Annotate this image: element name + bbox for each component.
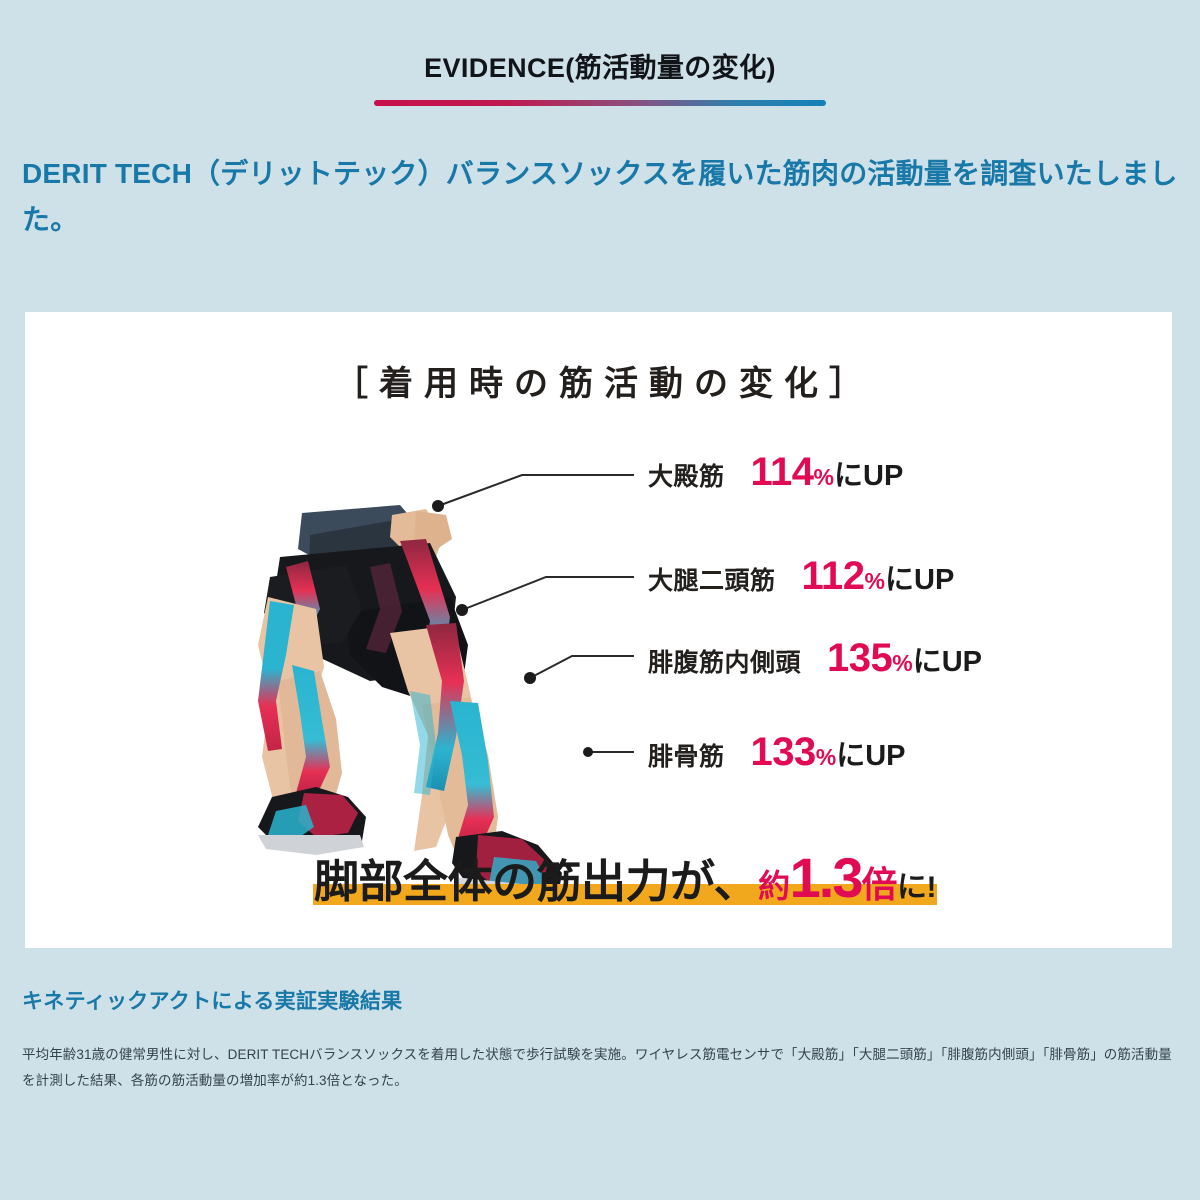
callout-value: 112%にUP (802, 556, 955, 596)
callout-hifukukin-naisokuto: 腓腹筋内側頭 135%にUP (648, 638, 982, 679)
callout-value: 114%にUP (751, 452, 904, 492)
callout-name: 腓腹筋内側頭 (648, 643, 801, 679)
callout-unit: % (865, 570, 885, 593)
callout-number: 133 (751, 732, 816, 772)
callout-number: 135 (827, 638, 892, 678)
callout-name: 大腿二頭筋 (648, 561, 776, 597)
callout-value: 133%にUP (751, 732, 906, 772)
callout-number: 114 (751, 452, 814, 492)
callout-name: 大殿筋 (648, 457, 725, 493)
callout-daidenkin: 大殿筋 114%にUP (648, 452, 903, 493)
callout-suffix: にUP (836, 742, 905, 771)
callout-unit: % (892, 652, 912, 675)
callout-suffix: にUP (913, 648, 982, 677)
callout-hikotsukin: 腓骨筋 133%にUP (648, 732, 906, 773)
callout-suffix: にUP (834, 462, 903, 491)
footer-section: キネティックアクトによる実証実験結果 平均年齢31歳の健常男性に対し、DERIT… (22, 985, 1182, 1095)
callout-unit: % (816, 746, 836, 769)
callout-value: 135%にUP (827, 638, 982, 678)
callout-name: 腓骨筋 (648, 737, 725, 773)
callout-suffix: にUP (885, 566, 954, 595)
callout-unit: % (814, 466, 834, 489)
footer-heading: キネティックアクトによる実証実験結果 (22, 985, 1182, 1015)
callout-number: 112 (802, 556, 865, 596)
callout-daitai-nitokin: 大腿二頭筋 112%にUP (648, 556, 954, 597)
footer-body: 平均年齢31歳の健常男性に対し、DERIT TECHバランスソックスを着用した状… (22, 1042, 1182, 1095)
